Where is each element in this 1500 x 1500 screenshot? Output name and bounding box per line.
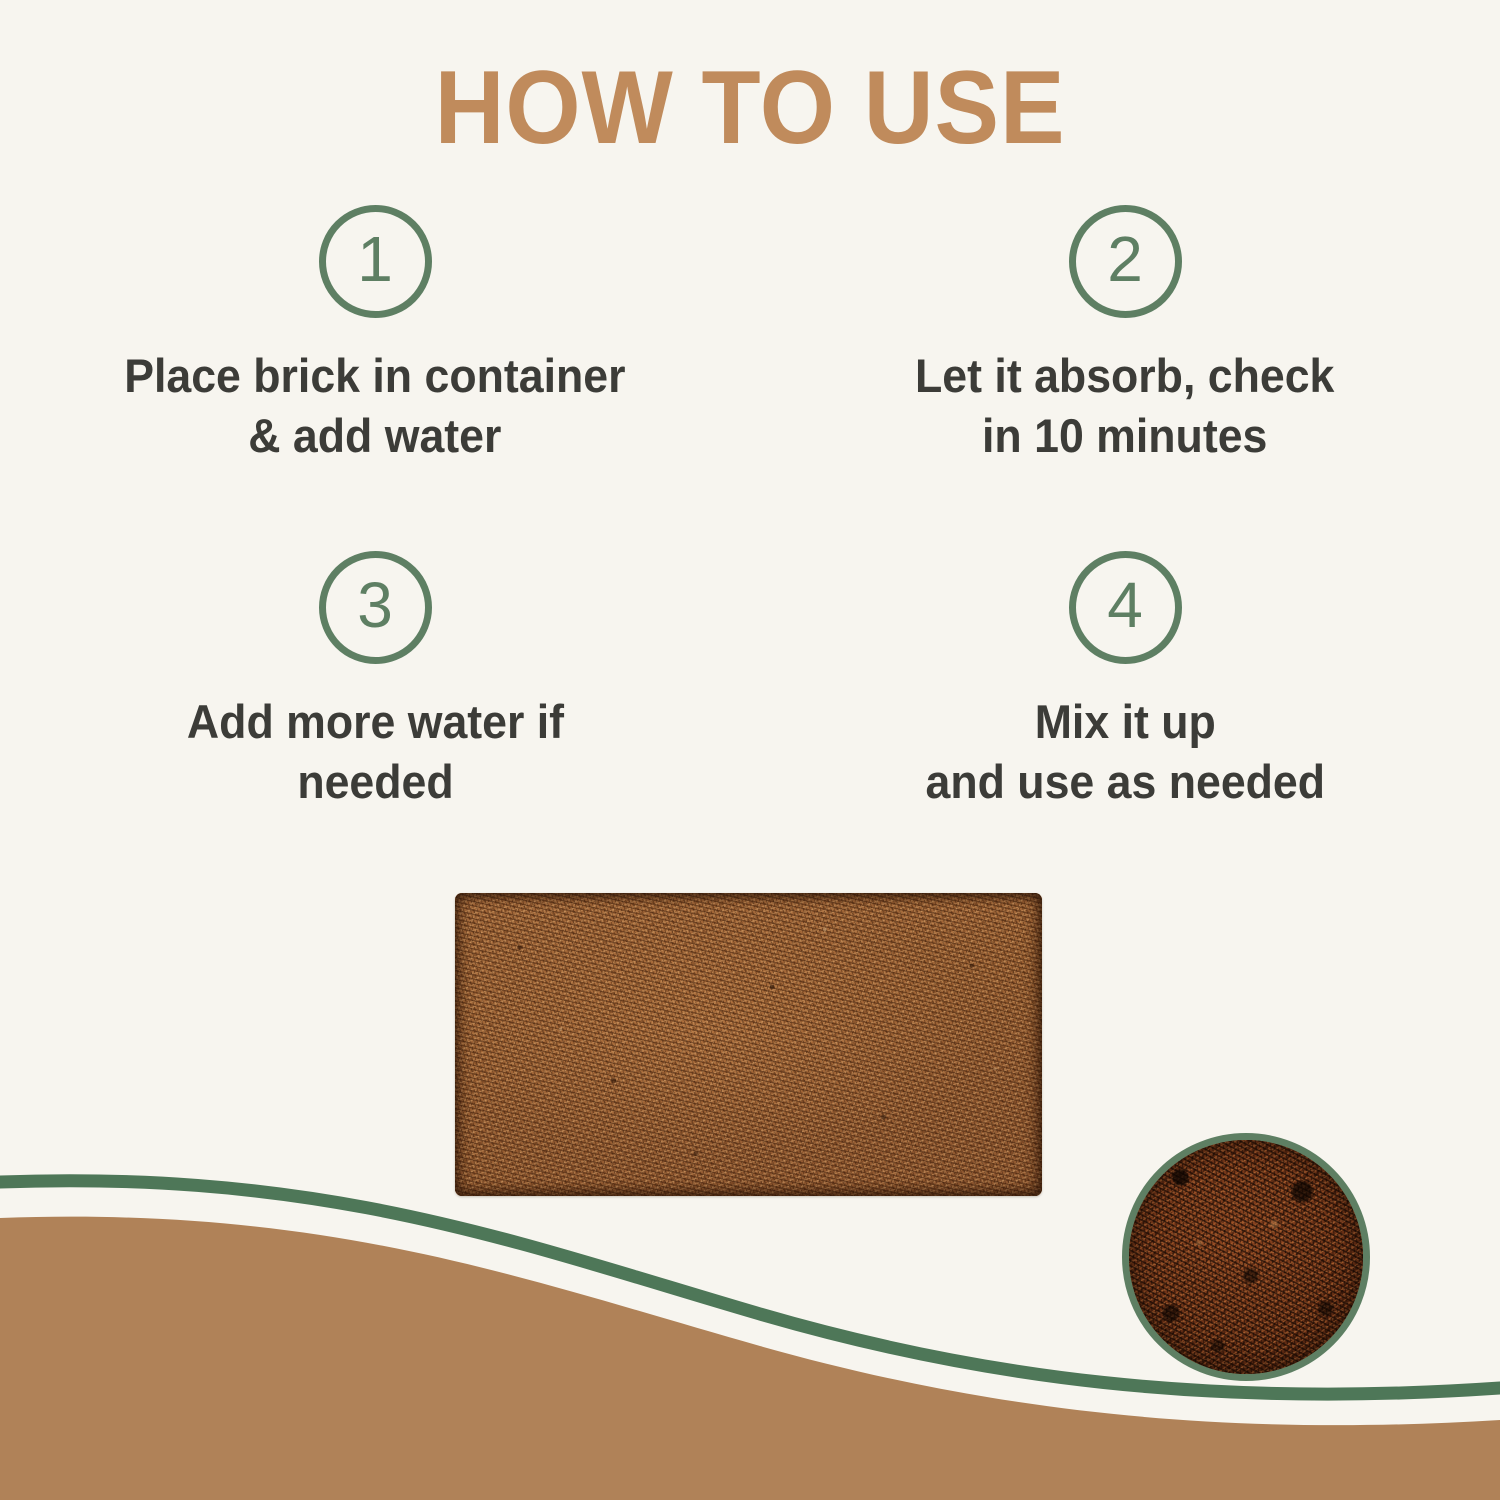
step-2-number-circle-icon: 2: [1069, 205, 1182, 318]
step-4-number: 4: [1107, 573, 1143, 637]
page-title: HOW TO USE: [53, 54, 1448, 163]
step-3-number-circle-icon: 3: [319, 551, 432, 664]
step-1-label: Place brick in container & add water: [124, 346, 625, 466]
step-3: 3 Add more water if needed: [0, 551, 750, 812]
soil-vignette: [1129, 1140, 1363, 1374]
loose-coir-soil-closeup: [1122, 1133, 1370, 1381]
step-2-number: 2: [1107, 227, 1143, 291]
step-4-label: Mix it up and use as needed: [925, 692, 1325, 812]
how-to-use-infographic: HOW TO USE 1 Place brick in container & …: [0, 0, 1500, 1500]
step-1: 1 Place brick in container & add water: [0, 205, 750, 466]
brick-edge-shading: [455, 893, 1042, 1196]
steps-grid: 1 Place brick in container & add water 2…: [0, 205, 1500, 813]
step-1-number-circle-icon: 1: [319, 205, 432, 318]
compressed-coco-coir-brick: [455, 893, 1042, 1196]
step-2: 2 Let it absorb, check in 10 minutes: [750, 205, 1500, 466]
step-3-label: Add more water if needed: [186, 692, 563, 812]
step-3-number: 3: [357, 573, 393, 637]
step-4-number-circle-icon: 4: [1069, 551, 1182, 664]
step-2-label: Let it absorb, check in 10 minutes: [915, 346, 1334, 466]
step-4: 4 Mix it up and use as needed: [750, 551, 1500, 812]
step-1-number: 1: [357, 227, 393, 291]
